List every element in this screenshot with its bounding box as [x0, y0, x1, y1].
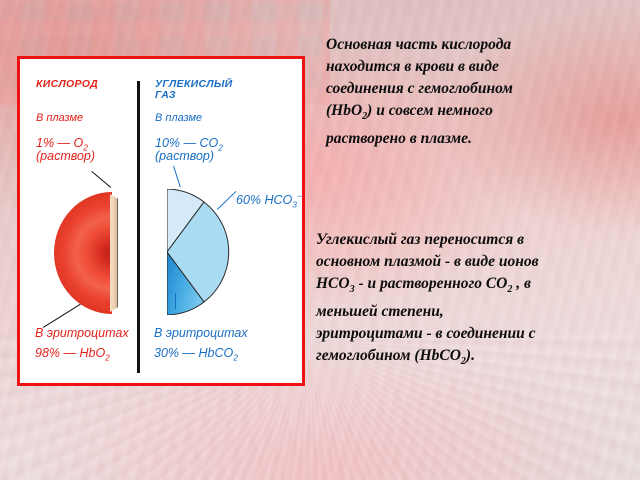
carbon-dioxide-pie-chart	[167, 189, 241, 315]
paragraph-oxygen-line-2: находится в крови в виде	[326, 56, 634, 78]
carbon-dioxide-bicarbonate-value: 60% HCO3−	[236, 190, 302, 211]
carbon-dioxide-heading: УГЛЕКИСЛЫЙ ГАЗ	[155, 79, 233, 101]
carbon-dioxide-pie-svg	[167, 189, 241, 315]
panel-divider	[137, 81, 140, 373]
carbon-dioxide-bicarbonate-sup: −	[297, 191, 302, 201]
oxygen-hbo2-slice	[54, 192, 112, 314]
oxygen-heading: КИСЛОРОД	[36, 79, 98, 90]
paragraph-oxygen-line-4: (HbO2) и совсем немного	[326, 100, 634, 128]
oxygen-plasma-leader-line	[91, 171, 111, 188]
carbon-dioxide-erythrocytes-value-sub: 2	[233, 353, 238, 363]
oxygen-erythrocytes-value-sub: 2	[105, 353, 110, 363]
oxygen-dissolved-slice	[110, 194, 118, 312]
carbon-dioxide-plasma-note: (раствор)	[155, 150, 214, 163]
paragraph-co2-line-6: гемоглобином (HbCO2).	[316, 345, 638, 373]
oxygen-plasma-note: (раствор)	[36, 150, 95, 163]
paragraph-oxygen-line-1: Основная часть кислорода	[326, 34, 634, 56]
carbon-dioxide-erythrocytes-value: 30% — HbCO2	[154, 347, 238, 364]
paragraph-co2-line-2: основном плазмой - в виде ионов	[316, 251, 638, 273]
paragraph-oxygen-line-5: растворено в плазме.	[326, 128, 634, 150]
diagram-panel: КИСЛОРОД В плазме 1% — O2 (раствор) В эр…	[17, 56, 305, 386]
carbon-dioxide-plasma-value-sub: 2	[218, 143, 223, 153]
carbon-dioxide-erythrocytes-value-text: 30% — HbCO	[154, 346, 233, 360]
carbon-dioxide-bicarbonate-text: 60% HCO	[236, 193, 292, 207]
hbo2-subscript: 2	[362, 111, 367, 122]
carbon-dioxide-erythrocytes-label: В эритроцитах	[154, 327, 248, 340]
oxygen-plasma-value-text: 1% — O	[36, 136, 83, 150]
carbon-dioxide-bicarbonate-sub: 3	[292, 200, 297, 210]
hbco2-subscript: 2	[461, 356, 466, 367]
oxygen-erythrocytes-label: В эритроцитах	[35, 327, 129, 340]
paragraph-oxygen: Основная часть кислорода находится в кро…	[326, 34, 634, 150]
carbon-dioxide-plasma-leader-line	[173, 166, 181, 187]
oxygen-erythrocytes-value: 98% — HbO2	[35, 347, 110, 364]
paragraph-co2-line-5: эритроцитами - в соединении с	[316, 323, 638, 345]
paragraph-oxygen-line-3: соединения с гемоглобином	[326, 78, 634, 100]
co2-subscript: 2	[507, 284, 512, 295]
paragraph-co2-line-3: HCO3 - и растворенного CO2 , в	[316, 273, 638, 301]
paragraph-co2-line-4: меньшей степени,	[316, 301, 638, 323]
oxygen-erythrocytes-value-text: 98% — HbO	[35, 346, 105, 360]
carbon-dioxide-erythrocyte-leader-line	[175, 293, 176, 309]
paragraph-carbon-dioxide: Углекислый газ переносится в основном пл…	[316, 229, 638, 373]
carbon-dioxide-plasma-value-text: 10% — CO	[155, 136, 218, 150]
oxygen-plasma-label: В плазме	[36, 112, 83, 124]
carbon-dioxide-plasma-label: В плазме	[155, 112, 202, 124]
oxygen-pie-chart	[54, 192, 122, 314]
hco3-subscript: 3	[350, 284, 355, 295]
paragraph-co2-line-1: Углекислый газ переносится в	[316, 229, 638, 251]
